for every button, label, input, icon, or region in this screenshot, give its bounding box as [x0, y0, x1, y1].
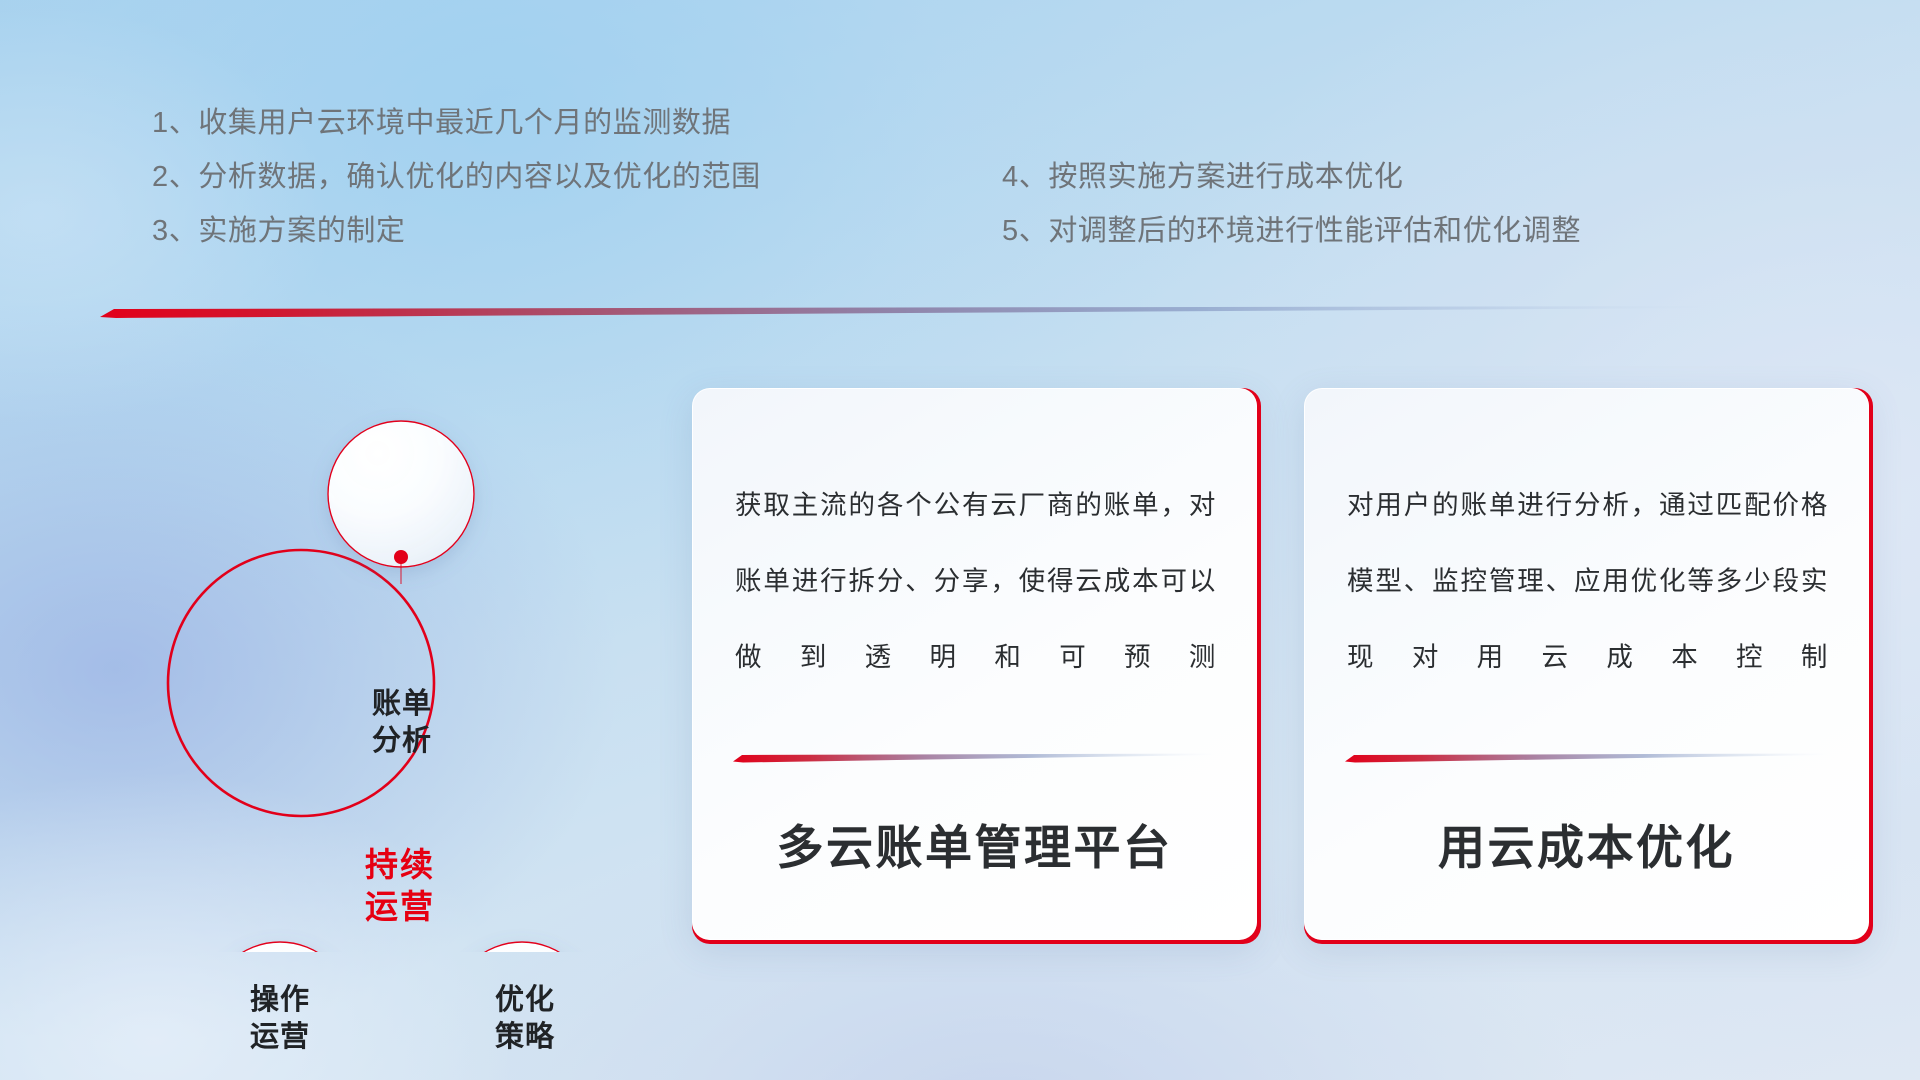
card-1-body: 获取主流的各个公有云厂商的账单，对账单进行拆分、分享，使得云成本可以做到透明和可…: [735, 467, 1216, 695]
card-1-rule: [733, 753, 1215, 763]
diagram-main-ring: [168, 550, 434, 816]
diagram-node-top: [394, 550, 408, 564]
diagram-bubble-top: [328, 421, 474, 567]
continuous-operation-diagram: 账单 分析 操作 运营 优化 策略 持续 运营: [95, 352, 635, 952]
bullet-item-3: 3、实施方案的制定: [152, 204, 761, 258]
bullet-item-1: 1、收集用户云环境中最近几个月的监测数据: [152, 96, 761, 150]
card-2-body: 对用户的账单进行分析，通过匹配价格模型、监控管理、应用优化等多少段实现对用云成本…: [1347, 467, 1828, 695]
feature-card-multicloud-billing[interactable]: 获取主流的各个公有云厂商的账单，对账单进行拆分、分享，使得云成本可以做到透明和可…: [692, 388, 1257, 940]
section-divider: [100, 305, 1710, 319]
bullet-item-2: 2、分析数据，确认优化的内容以及优化的范围: [152, 150, 761, 204]
card-2-title: 用云成本优化: [1305, 809, 1868, 878]
bullet-list-right: 4、按照实施方案进行成本优化 5、对调整后的环境进行性能评估和优化调整: [1002, 150, 1581, 258]
diagram-bubble-bottom-left: [207, 942, 353, 952]
bullet-item-5: 5、对调整后的环境进行性能评估和优化调整: [1002, 204, 1581, 258]
bullet-list-left: 1、收集用户云环境中最近几个月的监测数据 2、分析数据，确认优化的内容以及优化的…: [152, 96, 761, 258]
diagram-bubble-bottom-right: [449, 942, 595, 952]
feature-card-cloud-cost-optimization[interactable]: 对用户的账单进行分析，通过匹配价格模型、监控管理、应用优化等多少段实现对用云成本…: [1304, 388, 1869, 940]
bullet-item-4: 4、按照实施方案进行成本优化: [1002, 150, 1581, 204]
card-2-rule: [1345, 753, 1827, 763]
card-1-title: 多云账单管理平台: [693, 809, 1256, 878]
